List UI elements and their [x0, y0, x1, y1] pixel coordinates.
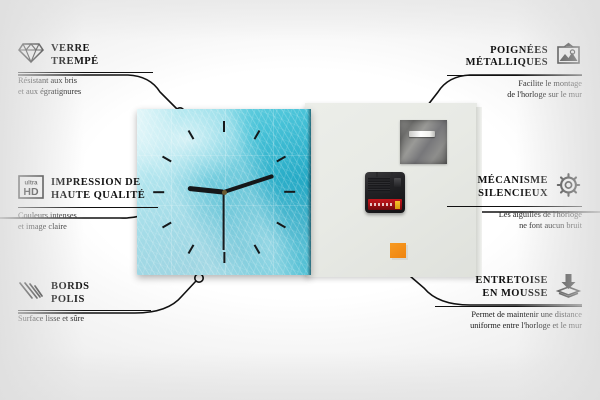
hanger-slot — [409, 131, 435, 137]
clock-tick — [223, 252, 225, 263]
feature-entretoise-en-mousse: ENTRETOISE EN MOUSSE Permet de maintenir… — [435, 272, 582, 331]
product-image — [137, 103, 477, 281]
feature-subtitle: Les aiguilles de l'horloge ne font aucun… — [447, 210, 582, 231]
picture-hanger-icon — [555, 42, 582, 72]
feature-divider — [447, 206, 582, 207]
feature-title: POIGNÉES MÉTALLIQUES — [466, 45, 548, 70]
clock-second-hand — [223, 192, 225, 250]
feature-divider — [435, 306, 582, 307]
feature-divider — [18, 207, 158, 208]
glass-edge-shadow — [307, 109, 311, 275]
gear-icon — [555, 172, 582, 203]
clock-mechanism — [365, 172, 405, 213]
feature-divider — [447, 75, 582, 76]
feature-impression-haute-qualite: ultra HD IMPRESSION DE HAUTE QUALITÉ Cou… — [18, 175, 158, 232]
ultra-hd-icon: ultra HD — [18, 175, 44, 204]
clock-center-cap — [222, 190, 227, 195]
feature-divider — [18, 72, 153, 73]
feature-verre-trempe: VERRE TREMPÉ Résistant aux bris et aux é… — [18, 42, 153, 97]
feature-title: BORDS POLIS — [51, 281, 89, 306]
polished-edges-icon — [18, 280, 44, 307]
foam-spacer — [390, 243, 406, 258]
panel-seam — [273, 109, 274, 275]
battery-stripe — [370, 203, 394, 206]
glass-clock-face — [137, 109, 311, 275]
diamond-icon — [18, 42, 44, 69]
mechanism-knob — [394, 178, 401, 187]
clock-tick — [284, 191, 295, 193]
infographic-stage: VERRE TREMPÉ Résistant aux bris et aux é… — [0, 0, 600, 400]
feature-title: IMPRESSION DE HAUTE QUALITÉ — [51, 177, 145, 202]
feature-bords-polis: BORDS POLIS Surface lisse et sûre — [18, 280, 151, 325]
feature-subtitle: Surface lisse et sûre — [18, 314, 151, 325]
feature-subtitle: Facilite le montage de l'horloge sur le … — [447, 79, 582, 100]
feature-title: MÉCANISME SILENCIEUX — [477, 175, 548, 200]
mechanism-grill — [368, 177, 390, 193]
feature-title: VERRE TREMPÉ — [51, 43, 99, 68]
feature-subtitle: Permet de maintenir une distance uniform… — [435, 310, 582, 331]
feature-subtitle: Résistant aux bris et aux égratignures — [18, 76, 153, 97]
feature-mecanisme-silencieux: MÉCANISME SILENCIEUX Les aiguilles de l'… — [447, 172, 582, 231]
feature-title: ENTRETOISE EN MOUSSE — [475, 275, 548, 300]
panel-seam — [171, 109, 172, 275]
feature-divider — [18, 310, 151, 311]
feature-poignees-metalliques: POIGNÉES MÉTALLIQUES Facilite le montage… — [447, 42, 582, 100]
foam-spacer-icon — [555, 272, 582, 303]
clock-tick — [223, 121, 225, 132]
svg-text:HD: HD — [23, 186, 39, 198]
battery — [368, 199, 402, 210]
metal-hanger-plate — [400, 120, 447, 164]
feature-subtitle: Couleurs intenses et image claire — [18, 211, 158, 232]
